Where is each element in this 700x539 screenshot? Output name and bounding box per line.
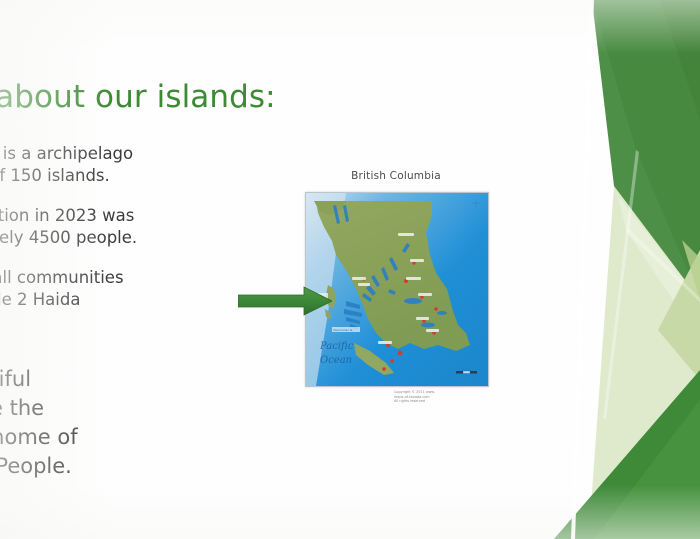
body-paragraph-2: opulation in 2023 was ximately 4500 peop… bbox=[0, 205, 252, 248]
map-image: Haida Gwaii Vancouver Is. Pacific Ocean bbox=[305, 192, 489, 387]
map-vancouver-island-label: Vancouver Is. bbox=[332, 327, 360, 332]
map-graphic: Haida Gwaii Vancouver Is. Pacific Ocean bbox=[306, 193, 488, 386]
svg-text:Vancouver Is.: Vancouver Is. bbox=[333, 328, 353, 332]
slide-canvas: e about our islands: Gwaii is a archipel… bbox=[0, 0, 700, 539]
map-caption: British Columbia bbox=[300, 170, 492, 182]
slide-title: e about our islands: bbox=[0, 79, 366, 115]
map-ocean-label-line1: Pacific bbox=[319, 341, 354, 352]
pointer-arrow-icon bbox=[238, 286, 332, 316]
decor-divider-line-1 bbox=[571, 0, 594, 539]
map-copyright-credit: Copyright © 2011 www. maps-of-canada.com… bbox=[394, 390, 490, 404]
body-paragraph-3: 7 small communities include 2 Haida s. bbox=[0, 267, 252, 332]
body-paragraph-1: Gwaii is a archipelago ting of 150 islan… bbox=[0, 143, 252, 186]
body-closing-statement: beautiful ds are the stral home of laida… bbox=[0, 365, 238, 481]
map-scale-bar bbox=[456, 371, 477, 374]
map-ocean-label-line2: Ocean bbox=[320, 355, 352, 366]
decorative-green-chevrons bbox=[540, 0, 700, 539]
